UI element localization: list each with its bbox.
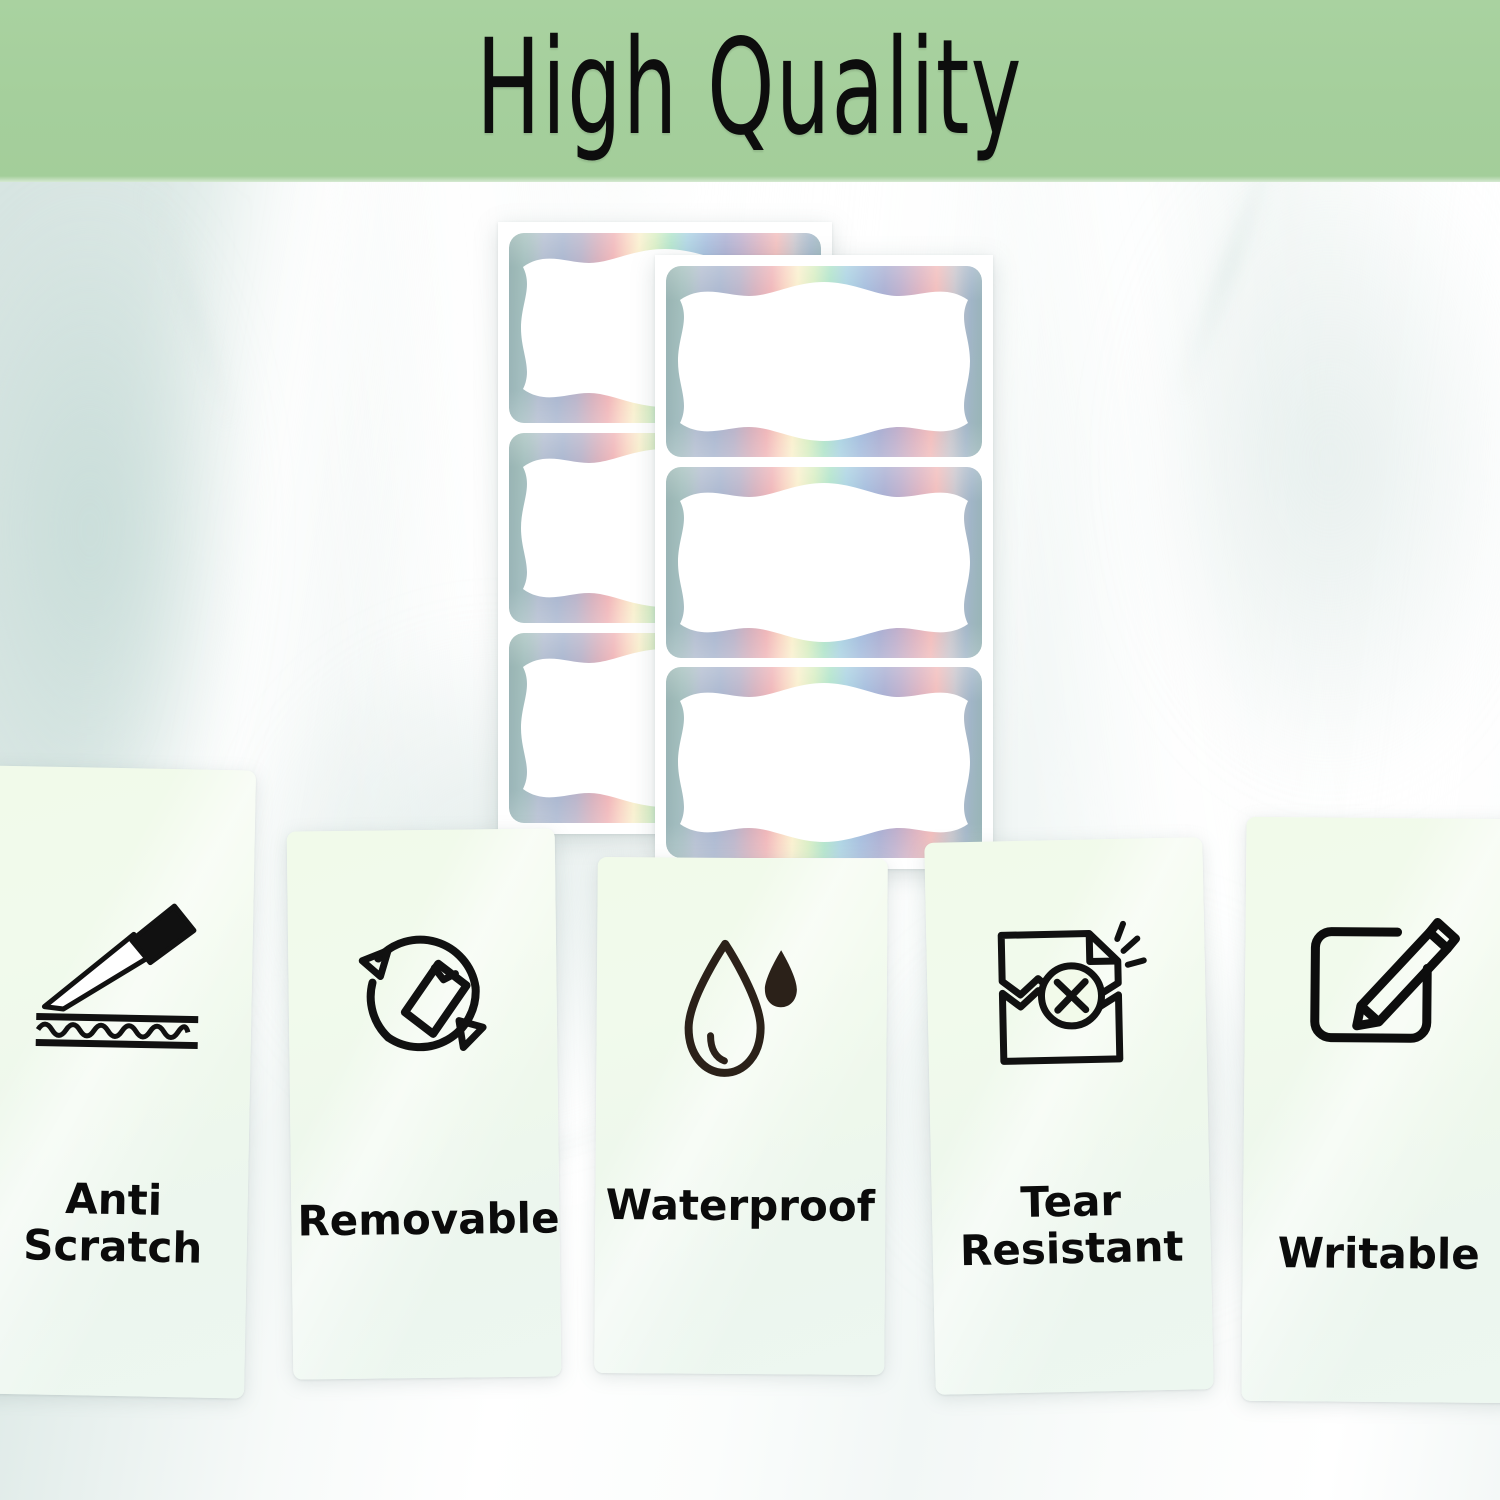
feature-card-tear-resistant[interactable]: Tear Resistant xyxy=(924,837,1213,1395)
pencil-square-edit-icon xyxy=(1292,897,1470,1075)
circular-arrows-label-icon xyxy=(334,907,512,1085)
torn-paper-x-icon xyxy=(977,910,1157,1090)
feature-label: Anti Scratch xyxy=(0,1173,248,1272)
knife-scratch-surface-icon xyxy=(29,878,208,1057)
feature-card-writable[interactable]: Writable xyxy=(1241,817,1500,1403)
water-droplet-icon xyxy=(653,919,830,1096)
feature-label: Tear Resistant xyxy=(931,1175,1211,1275)
feature-card-removable[interactable]: Removable xyxy=(287,828,562,1379)
feature-card-row: Anti Scratch xyxy=(0,0,1500,1500)
feature-card-anti-scratch[interactable]: Anti Scratch xyxy=(0,765,256,1398)
product-infographic: High Quality xyxy=(0,0,1500,1500)
feature-card-waterproof[interactable]: Waterproof xyxy=(594,857,888,1375)
feature-label: Waterproof xyxy=(595,1181,885,1230)
feature-label: Writable xyxy=(1243,1229,1500,1278)
feature-label: Removable xyxy=(291,1194,560,1244)
